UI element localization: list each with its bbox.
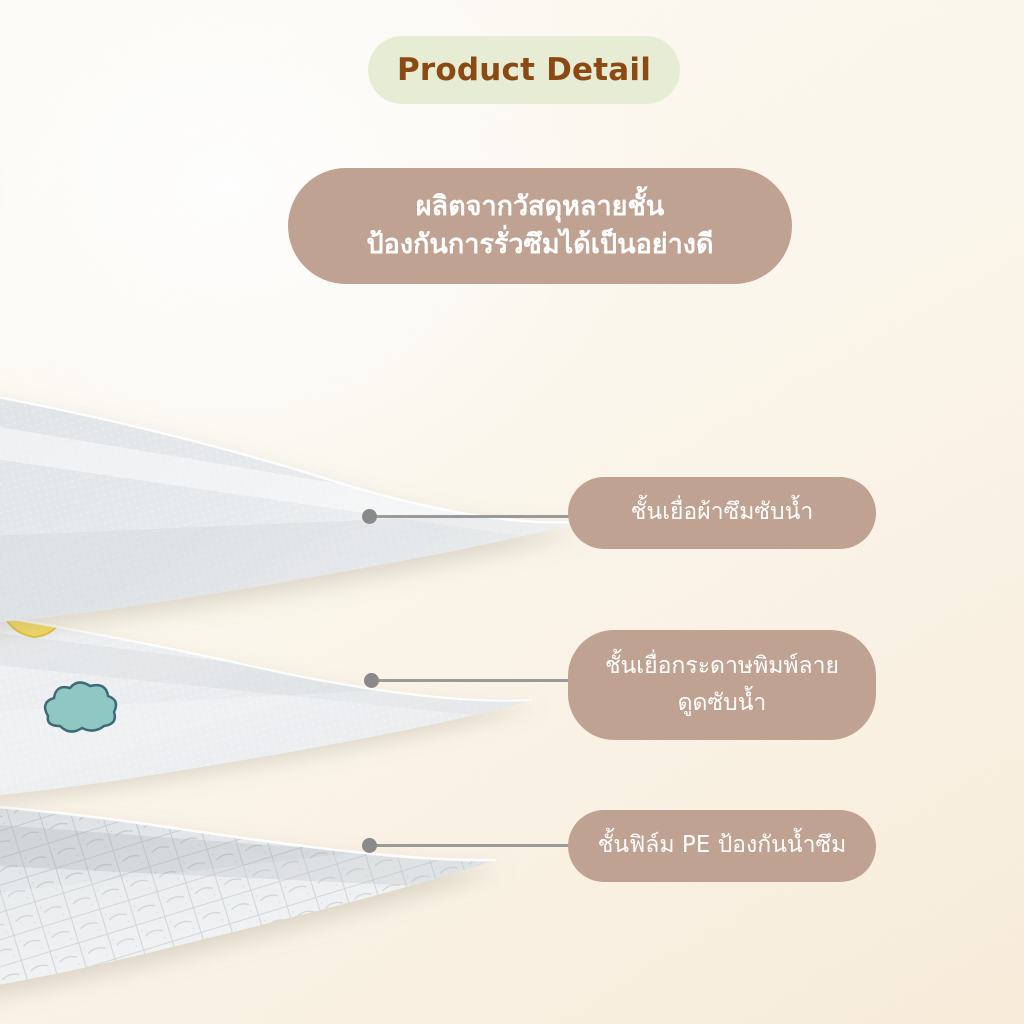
headline-line-1: ผลิตจากวัสดุหลายชั้น	[416, 189, 665, 225]
product-layer-photo	[0, 330, 620, 1024]
layer-label-absorbent-fabric: ชั้นเยื่อผ้าซึมซับน้ำ	[568, 477, 876, 549]
headline-banner: ผลิตจากวัสดุหลายชั้น ป้องกันการรั่วซึมได…	[288, 168, 792, 284]
layer-label-line: ชั้นฟิล์ม PE ป้องกันน้ำซึม	[598, 827, 847, 864]
leader-line-pe-film	[370, 844, 570, 847]
headline-line-2: ป้องกันการรั่วซึมได้เป็นอย่างดี	[367, 227, 714, 263]
leader-dot-printed-pulp	[364, 673, 379, 688]
layer-label-line: ดูดซับน้ำ	[678, 685, 767, 722]
leader-line-absorbent-fabric	[370, 515, 570, 518]
absorbent-fabric-layer	[0, 340, 620, 670]
page-title: Product Detail	[397, 52, 651, 88]
layer-label-line: ชั้นเยื่อผ้าซึมซับน้ำ	[631, 494, 814, 531]
product-detail-badge: Product Detail	[368, 36, 680, 104]
layer-label-line: ชั้นเยื่อกระดาษพิมพ์ลาย	[605, 648, 839, 685]
layer-label-printed-pulp: ชั้นเยื่อกระดาษพิมพ์ลาย ดูดซับน้ำ	[568, 630, 876, 740]
layer-label-pe-film: ชั้นฟิล์ม PE ป้องกันน้ำซึม	[568, 810, 876, 882]
leader-dot-absorbent-fabric	[362, 509, 377, 524]
infographic-canvas: Product Detail ผลิตจากวัสดุหลายชั้น ป้อง…	[0, 0, 1024, 1024]
pe-film-layer	[0, 770, 620, 1024]
leader-dot-pe-film	[362, 838, 377, 853]
leader-line-printed-pulp	[372, 679, 570, 682]
